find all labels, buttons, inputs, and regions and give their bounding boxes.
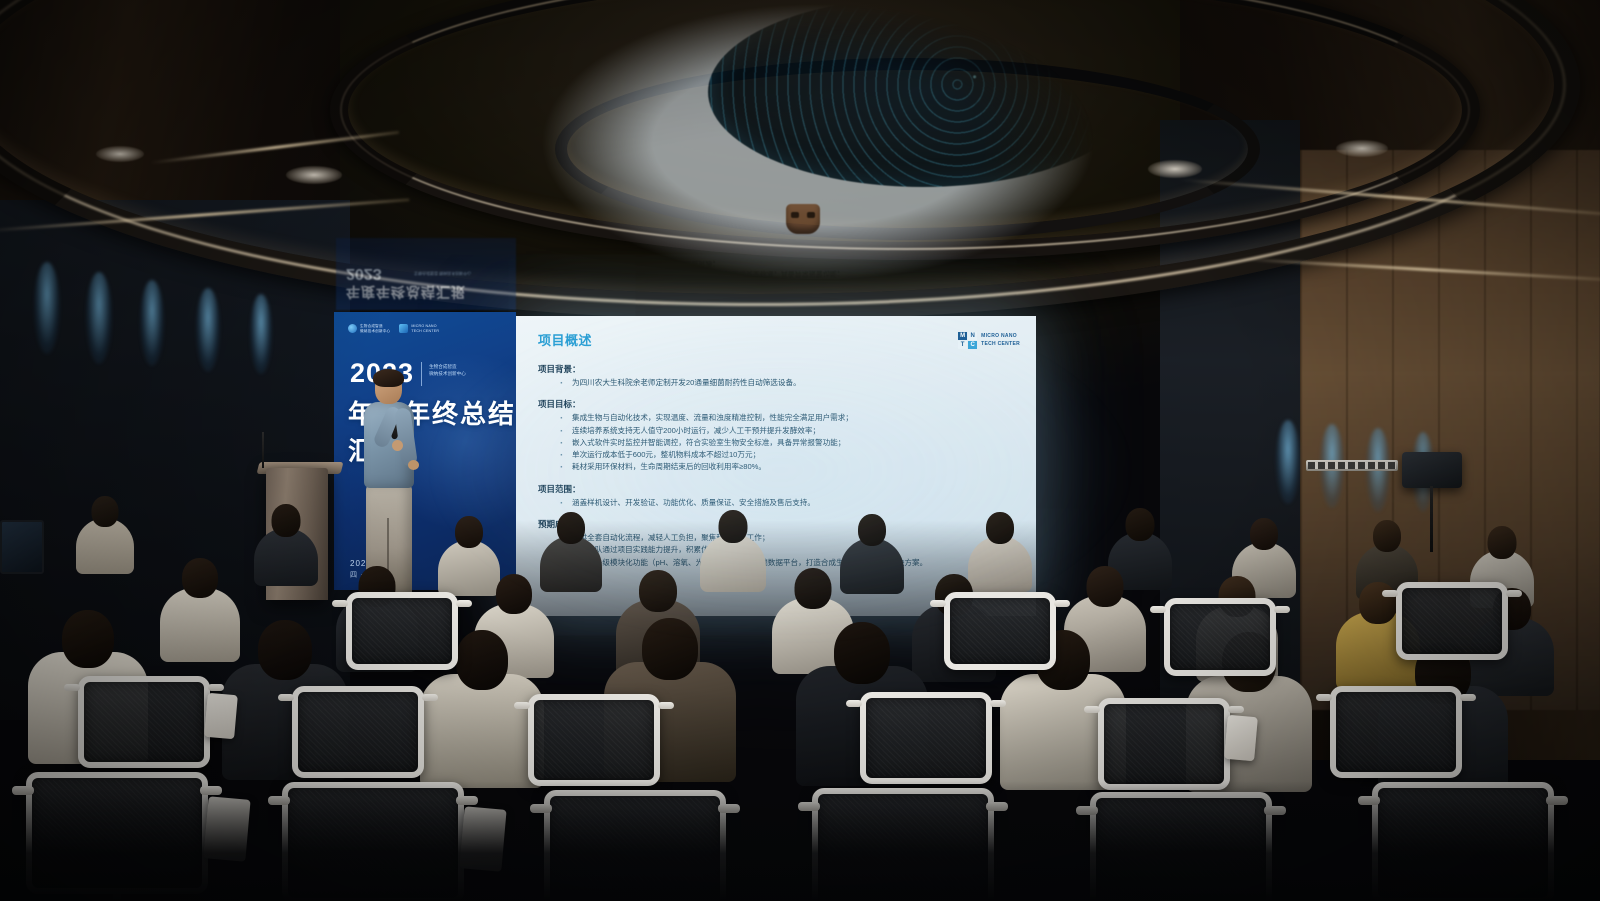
chair-armrest-left bbox=[332, 600, 348, 607]
presenter-hand-mic bbox=[392, 440, 403, 451]
conference-hall-scene: · 嵌入式软件实时监控（pH、DO等）并智能调控，符合实验室生物安全标准，具备异… bbox=[0, 0, 1600, 901]
capsule-reflection bbox=[196, 288, 220, 372]
ceiling-downlight bbox=[1336, 140, 1388, 157]
org-mark-square-icon bbox=[399, 324, 408, 333]
banner-subtitle-line1: 生物合成智造 bbox=[429, 364, 457, 369]
logo-cell: C bbox=[968, 341, 977, 349]
chair-armrest-right bbox=[1274, 606, 1290, 613]
ceiling-downlight bbox=[286, 166, 342, 184]
chair-writing-tablet[interactable] bbox=[204, 693, 238, 739]
chair-armrest-left bbox=[1382, 590, 1398, 597]
chair-armrest-left bbox=[278, 694, 294, 701]
org-mark-icon bbox=[348, 324, 357, 333]
audience-head bbox=[719, 510, 748, 543]
chair-back bbox=[292, 686, 424, 778]
chair-back bbox=[1164, 598, 1276, 676]
audience-head bbox=[1359, 582, 1397, 624]
banner-logo-text: 生物合成智造 微纳技术创新中心 bbox=[360, 324, 390, 334]
audience-head bbox=[496, 574, 532, 614]
audience-member bbox=[254, 504, 318, 584]
chair-armrest-right bbox=[208, 684, 224, 691]
chair-armrest-left bbox=[1316, 694, 1332, 701]
bullet-item: 连续培养系统支持无人值守200小时运行，减少人工干预并提升发酵效率； bbox=[560, 425, 1016, 437]
chair[interactable] bbox=[1098, 698, 1230, 790]
chair-armrest-left bbox=[930, 600, 946, 607]
chair[interactable] bbox=[528, 694, 660, 786]
chair[interactable] bbox=[944, 592, 1056, 670]
capsule-reflection bbox=[34, 262, 60, 354]
reflected-bullet: · 工程团队通过项目实践能力提升，积累优质供应链资源； bbox=[540, 258, 1096, 268]
logo-text: MICRO NANO TECH CENTER bbox=[981, 333, 1020, 348]
micro-nano-logo-slide: M N T C MICRO NANO TECH CENTER bbox=[958, 332, 1020, 349]
presenter-hair bbox=[373, 369, 404, 387]
audience-head bbox=[1488, 526, 1517, 559]
floor bbox=[0, 781, 1600, 901]
chair-armrest-left bbox=[64, 684, 80, 691]
ceiling-downlight bbox=[1148, 160, 1202, 178]
banner-reflection-year: 2023 bbox=[346, 264, 382, 282]
ceiling-camera-reflection bbox=[786, 204, 820, 234]
chair-back bbox=[944, 592, 1056, 670]
chair-armrest-right bbox=[1506, 590, 1522, 597]
chair-armrest-right bbox=[1228, 706, 1244, 713]
chair-writing-tablet[interactable] bbox=[1224, 715, 1258, 761]
audience-head bbox=[858, 514, 886, 546]
banner-reflection-title: 年度年终总结汇报 bbox=[346, 282, 466, 302]
capsule-reflection bbox=[140, 280, 164, 366]
audience-area bbox=[0, 470, 1600, 901]
chair[interactable] bbox=[1164, 598, 1276, 676]
logo-cell: M bbox=[958, 332, 967, 340]
chair[interactable] bbox=[292, 686, 424, 778]
audience-head bbox=[62, 610, 114, 668]
chair-armrest-left bbox=[1150, 606, 1166, 613]
reflected-bullet: · 嵌入式软件实时监控（pH、DO等）并智能调控，符合实验室生物安全标准，具备异… bbox=[540, 268, 1096, 278]
chair-armrest-right bbox=[990, 700, 1006, 707]
banner-logo-text: MICRO NANO TECH CENTER bbox=[411, 324, 439, 334]
capsule-reflection bbox=[86, 272, 112, 364]
chair-back bbox=[78, 676, 210, 768]
logo-cell: N bbox=[968, 332, 977, 340]
logo-cell: T bbox=[958, 341, 967, 349]
chair-armrest-right bbox=[658, 702, 674, 709]
bullet-item: 为四川农大生科院余老师定制开发20通量细菌耐药性自动筛选设备。 bbox=[560, 377, 1016, 389]
banner-reflection-sub: 生物合成智造 微纳技术创新中心 bbox=[414, 270, 471, 276]
audience-head bbox=[557, 512, 585, 544]
chair-armrest-left bbox=[846, 700, 862, 707]
section-bullet-list: 集成生物与自动化技术，实现温度、流量和浊度精准控制，性能完全满足用户需求； 连续… bbox=[560, 412, 1016, 473]
chair-back bbox=[860, 692, 992, 784]
banner-reflection: 年度年终总结汇报 2023 生物合成智造 微纳技术创新中心 bbox=[336, 238, 516, 310]
chair-armrest-right bbox=[456, 600, 472, 607]
banner-logo-line1: 生物合成智造 bbox=[360, 324, 383, 328]
chair-back bbox=[528, 694, 660, 786]
slide-section-background: 项目背景： 为四川农大生科院余老师定制开发20通量细菌耐药性自动筛选设备。 bbox=[538, 363, 1016, 389]
section-bullet-list: 为四川农大生科院余老师定制开发20通量细菌耐药性自动筛选设备。 bbox=[560, 377, 1016, 389]
bullet-item: 嵌入式软件实时监控并智能调控，符合实验室生物安全标准，具备异常报警功能； bbox=[560, 437, 1016, 449]
chair-armrest-left bbox=[1084, 706, 1100, 713]
section-heading: 项目背景： bbox=[538, 363, 1016, 375]
presenter-hand-clicker bbox=[408, 460, 419, 470]
bullet-item: 单次运行成本低于600元，整机物料成本不超过10万元； bbox=[560, 449, 1016, 461]
logo-grid-icon: M N T C bbox=[958, 332, 977, 349]
audience-head bbox=[1250, 518, 1278, 550]
audience-head bbox=[834, 622, 890, 684]
audience-head bbox=[182, 558, 218, 598]
audience-head bbox=[1126, 508, 1155, 541]
chair[interactable] bbox=[860, 692, 992, 784]
chair[interactable] bbox=[1396, 582, 1508, 660]
chair-armrest-right bbox=[422, 694, 438, 701]
audience-head bbox=[639, 570, 677, 612]
banner-logo-row: 生物合成智造 微纳技术创新中心 MICRO NANO TECH CENTER bbox=[348, 324, 439, 334]
chair[interactable] bbox=[78, 676, 210, 768]
audience-head bbox=[455, 516, 483, 548]
audience-head bbox=[456, 630, 508, 690]
audience-body bbox=[420, 674, 544, 788]
banner-logo-line1: MICRO NANO bbox=[411, 324, 436, 328]
capsule-reflection bbox=[250, 294, 272, 374]
logo-text-line2: TECH CENTER bbox=[981, 341, 1020, 347]
microphone-stand bbox=[262, 432, 264, 468]
reflected-bullet: · 结合云端数据平台打造高效方案。 bbox=[540, 248, 1096, 258]
chair-armrest-left bbox=[514, 702, 530, 709]
chair-back bbox=[1098, 698, 1230, 790]
chair[interactable] bbox=[346, 592, 458, 670]
bullet-item: 集成生物与自动化技术，实现温度、流量和浊度精准控制，性能完全满足用户需求； bbox=[560, 412, 1016, 424]
blue-circuit-globe-graphic bbox=[708, 0, 1118, 187]
chair-armrest-right bbox=[1460, 694, 1476, 701]
logo-text-line1: MICRO NANO bbox=[981, 333, 1017, 339]
audience-head bbox=[795, 568, 832, 609]
banner-logo-line2: TECH CENTER bbox=[411, 329, 439, 333]
banner-logo-primary: 生物合成智造 微纳技术创新中心 bbox=[348, 324, 390, 334]
slide-section-goals: 项目目标： 集成生物与自动化技术，实现温度、流量和浊度精准控制，性能完全满足用户… bbox=[538, 398, 1016, 473]
banner-logo-secondary: MICRO NANO TECH CENTER bbox=[399, 324, 439, 334]
audience-head bbox=[986, 512, 1014, 544]
banner-logo-line2: 微纳技术创新中心 bbox=[360, 329, 390, 333]
audience-head bbox=[258, 620, 312, 680]
chair-armrest-right bbox=[1054, 600, 1070, 607]
audience-head bbox=[642, 618, 698, 680]
audience-head bbox=[92, 496, 119, 527]
section-heading: 项目目标： bbox=[538, 398, 1016, 410]
audience-head bbox=[272, 504, 301, 537]
audience-member bbox=[76, 496, 134, 570]
chair-back bbox=[1330, 686, 1462, 778]
audience-member bbox=[700, 510, 766, 590]
ceiling-slide-reflection: · 嵌入式软件实时监控（pH、DO等）并智能调控，符合实验室生物安全标准，具备异… bbox=[518, 0, 1118, 292]
audience-head bbox=[1373, 520, 1401, 552]
audience-head bbox=[1087, 566, 1124, 607]
chair-back bbox=[346, 592, 458, 670]
ceiling-downlight bbox=[96, 146, 144, 162]
chair-back bbox=[1396, 582, 1508, 660]
slide-title: 项目概述 bbox=[538, 330, 1016, 349]
chair[interactable] bbox=[1330, 686, 1462, 778]
